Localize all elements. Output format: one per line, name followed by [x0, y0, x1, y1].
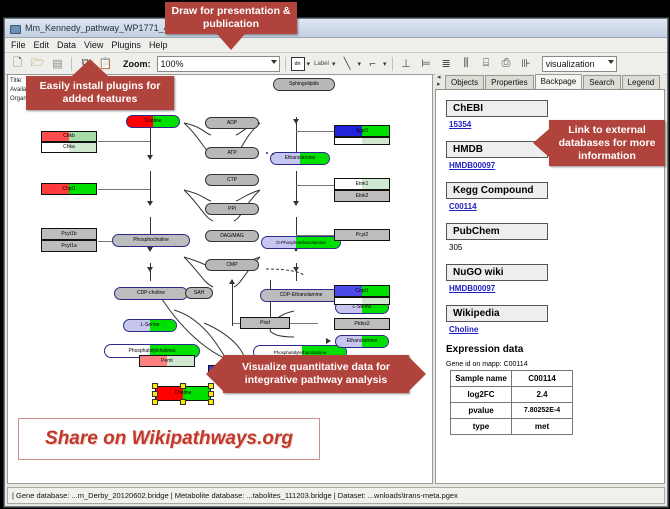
gene-node[interactable]: Chpt1	[41, 183, 97, 195]
callout-link: Link to external databases for more info…	[549, 120, 665, 166]
edge-segment	[296, 171, 297, 203]
cofactor-node[interactable]: CMP	[205, 259, 259, 271]
db-link-wikipedia[interactable]: Choline	[449, 325, 658, 334]
save-icon[interactable]: ▤	[49, 55, 66, 72]
stack-tool-icon[interactable]: ⫼	[458, 55, 475, 72]
arrow-icon	[229, 279, 235, 284]
gene-node[interactable]: Etnk1	[334, 178, 390, 190]
node-label: Ethanolamine	[347, 339, 378, 344]
gene-node[interactable]: Sgpl1	[334, 125, 390, 137]
gene-node[interactable]: Ptdss2	[334, 318, 390, 330]
arrow-icon	[147, 267, 153, 272]
tab-properties[interactable]: Properties	[485, 75, 533, 89]
menu-item-file[interactable]: File	[11, 40, 26, 50]
chevron-down-icon[interactable]: ▾	[358, 60, 362, 68]
metabolite-node[interactable]: Ethanolamine	[335, 335, 389, 348]
connector-tool-icon[interactable]: ⌐	[364, 55, 381, 72]
edge-segment	[296, 263, 297, 281]
gene-node[interactable]: Etnk2	[334, 190, 390, 202]
node-label: Phosphatidylcholines	[129, 349, 176, 354]
selection-handle[interactable]	[152, 383, 158, 389]
db-header-wikipedia: Wikipedia	[446, 305, 548, 322]
metabolite-node[interactable]: Sphingolipids	[273, 78, 335, 91]
metabolite-node[interactable]: SAH	[185, 287, 213, 299]
node-label: Chkb	[63, 134, 75, 139]
db-link-kegg[interactable]: C00114	[449, 202, 658, 211]
gene-node[interactable]: Pcyt1b	[41, 228, 97, 240]
chevron-down-icon[interactable]: ▾	[383, 60, 387, 68]
metabolite-node[interactable]	[266, 152, 268, 154]
cell-key: log2FC	[451, 387, 512, 403]
node-label: Pcyt1b	[61, 232, 76, 237]
cofactor-node[interactable]: ADP	[205, 117, 259, 129]
table-row: log2FC 2.4	[451, 387, 573, 403]
db-header-nugo: NuGO wiki	[446, 264, 548, 281]
node-label: Chpt1	[62, 187, 75, 192]
menu-item-data[interactable]: Data	[57, 40, 76, 50]
cell-key: pvalue	[451, 403, 512, 419]
selection-handle[interactable]	[180, 399, 186, 405]
tab-legend[interactable]: Legend	[622, 75, 661, 89]
arrow-icon	[326, 338, 331, 344]
node-label: Cept1	[355, 289, 368, 294]
edge-segment	[150, 127, 151, 157]
metabolite-node[interactable]: Choline	[126, 115, 180, 128]
toolbar-separator	[285, 57, 286, 71]
gene-node[interactable]: Pcyt1a	[41, 240, 97, 252]
gene-node[interactable]: Pemt	[139, 355, 195, 367]
node-label: Choline	[145, 119, 162, 124]
callout-arrow-plugins	[72, 59, 108, 76]
metabolite-node[interactable]: CDP-Ethanolamine	[260, 289, 342, 302]
edge-segment	[232, 280, 233, 326]
callout-visualize: Visualize quantitative data for integrat…	[223, 355, 409, 393]
node-label: ADP	[227, 121, 237, 126]
callout-arrow-link	[533, 129, 549, 157]
node-label: Ptdss2	[354, 322, 369, 327]
order-tool-icon[interactable]: ≣	[438, 55, 455, 72]
tab-backpage[interactable]: Backpage	[535, 74, 583, 89]
gene-node[interactable]: Chka	[41, 142, 97, 153]
metabolite-node[interactable]: Phosphocholine	[112, 234, 190, 247]
callout-draw: Draw for presentation & publication	[165, 2, 297, 34]
arrow-icon	[293, 119, 299, 124]
db-header-chebi: ChEBI	[446, 100, 548, 117]
cofactor-node[interactable]: ATP	[205, 147, 259, 159]
db-value-pubchem: 305	[449, 243, 658, 252]
node-label: CTP	[227, 178, 237, 183]
arrow-icon	[147, 247, 153, 252]
expression-data-heading: Expression data	[446, 344, 658, 355]
print-tool-icon[interactable]: ⎙	[498, 55, 515, 72]
node-label: Sphingolipids	[289, 82, 319, 87]
share-text: Share on Wikipathways.org	[45, 428, 293, 450]
gene-node[interactable]: Pisd	[240, 317, 290, 329]
gene-node[interactable]: Cept1	[334, 285, 390, 297]
node-label: Phosphatidylethanolamine	[274, 350, 327, 355]
gene-node[interactable]: Pcyt2	[334, 229, 390, 241]
cell-value: met	[512, 419, 573, 435]
node-label: Ethanolamine	[285, 156, 316, 161]
node-label: CDP-choline	[137, 291, 165, 296]
menu-item-plugins[interactable]: Plugins	[111, 40, 141, 50]
tab-scroll-icon[interactable]: ◂▸	[437, 74, 441, 88]
metabolite-node[interactable]: CDP-choline	[114, 287, 188, 300]
selection-handle[interactable]	[208, 391, 214, 397]
chevron-down-icon	[271, 60, 277, 64]
node-label: Chka	[63, 145, 75, 150]
line-tool-icon[interactable]: ╲	[339, 55, 356, 72]
table-row: pvalue 7.80252E-4	[451, 403, 573, 419]
menu-item-help[interactable]: Help	[149, 40, 168, 50]
node-label: Etnk2	[356, 194, 369, 199]
node-label: Pcyt1a	[61, 244, 76, 249]
callout-arrow-visualize-right	[409, 357, 426, 391]
cofactor-node[interactable]: CTP	[205, 174, 259, 186]
selection-handle[interactable]	[208, 399, 214, 405]
metabolite-node[interactable]: L-Serine	[123, 319, 177, 332]
menu-item-view[interactable]: View	[84, 40, 103, 50]
tab-objects[interactable]: Objects	[445, 75, 484, 89]
zoom-combo[interactable]: 100%	[157, 56, 280, 72]
node-label: DAG/MAG	[220, 234, 244, 239]
arrow-icon	[147, 155, 153, 160]
cell-key: type	[451, 419, 512, 435]
node-label: O-Phosphoethanolamine	[276, 240, 326, 245]
status-text: | Gene database: ...m_Derby_20120602.bri…	[12, 491, 458, 500]
menu-item-edit[interactable]: Edit	[34, 40, 50, 50]
edge-segment	[98, 189, 150, 190]
panel-tabs: ◂▸ Objects Properties Backpage Search Le…	[435, 74, 665, 90]
gene-node[interactable]	[334, 137, 390, 145]
chevron-down-icon[interactable]: ▾	[307, 60, 311, 68]
edge-segment	[150, 263, 151, 281]
new-file-icon[interactable]: 🗋	[9, 55, 26, 72]
arrow-icon	[293, 267, 299, 272]
status-bar: | Gene database: ...m_Derby_20120602.bri…	[7, 487, 665, 504]
node-label: Sgpl1	[356, 129, 369, 134]
selection-handle[interactable]	[180, 383, 186, 389]
node-label: Phosphocholine	[133, 238, 169, 243]
zoom-value: 100%	[161, 59, 184, 69]
cofactor-node[interactable]: DAG/MAG	[205, 230, 259, 242]
node-label: SAH	[194, 291, 204, 296]
chevron-down-icon	[608, 60, 614, 64]
arrow-icon	[147, 201, 153, 206]
tab-search[interactable]: Search	[583, 75, 620, 89]
cell-value: C00114	[512, 371, 573, 387]
app-icon	[9, 22, 21, 34]
node-label: L-Serine	[141, 323, 160, 328]
callout-plugins: Easily install plugins for added feature…	[26, 76, 174, 110]
label-tool-icon[interactable]: Label	[313, 55, 330, 72]
expression-table: Sample name C00114 log2FC 2.4 pvalue 7.8…	[450, 370, 573, 435]
screenshot-root: Mm_Kennedy_pathway_WP1771_45176.gpml Fil…	[0, 0, 670, 509]
callout-share: Share on Wikipathways.org	[18, 418, 320, 460]
node-label: Pcyt2	[356, 233, 369, 238]
node-label: Etnk1	[356, 182, 369, 187]
node-label: Pisd	[260, 321, 270, 326]
metabolite-node[interactable]: O-Phosphoethanolamine	[261, 236, 341, 249]
menu-bar: File Edit Data View Plugins Help	[5, 38, 667, 53]
node-label: CDP-Ethanolamine	[280, 293, 323, 298]
node-label: Pemt	[161, 359, 173, 364]
metabolite-node[interactable]: Ethanolamine	[270, 152, 330, 165]
edge-segment	[98, 141, 150, 142]
node-label: CMP	[226, 263, 237, 268]
cell-value: 2.4	[512, 387, 573, 403]
bring-front-tool-icon[interactable]: ⊪	[518, 55, 535, 72]
db-header-pubchem: PubChem	[446, 223, 548, 240]
toolbar-separator	[392, 57, 393, 71]
cell-key: Sample name	[451, 371, 512, 387]
chevron-down-icon[interactable]: ▾	[332, 60, 336, 68]
callout-arrow-draw	[217, 34, 245, 50]
metabolite-node[interactable]	[272, 153, 274, 155]
selection-handle[interactable]	[152, 399, 158, 405]
node-label: Choline	[175, 391, 192, 396]
visualization-value: visualization	[546, 59, 595, 69]
gene-node[interactable]: Chkb	[41, 131, 97, 142]
node-label: L-Serine	[353, 305, 372, 310]
node-label: ATP	[227, 151, 236, 156]
edge-segment	[150, 171, 151, 203]
distribute-tool-icon[interactable]: ⌸	[478, 55, 495, 72]
arrow-icon	[293, 201, 299, 206]
gene-id-line: Gene id on mapp: C00114	[446, 361, 658, 368]
edge-segment	[296, 185, 334, 186]
align-tool-icon[interactable]: ⊥	[398, 55, 415, 72]
title-bar: Mm_Kennedy_pathway_WP1771_45176.gpml	[5, 19, 667, 38]
datanode-tool-icon[interactable]: dn	[291, 57, 305, 71]
zoom-label: Zoom:	[123, 59, 151, 69]
selection-handle[interactable]	[152, 391, 158, 397]
db-header-kegg: Kegg Compound	[446, 182, 548, 199]
table-row: type met	[451, 419, 573, 435]
edge-segment	[296, 131, 334, 132]
table-row: Sample name C00114	[451, 371, 573, 387]
visualization-combo[interactable]: visualization	[542, 56, 617, 72]
group-tool-icon[interactable]: ⊨	[418, 55, 435, 72]
cell-value: 7.80252E-4	[512, 403, 573, 419]
callout-arrow-visualize	[206, 357, 223, 391]
cofactor-node[interactable]: PPi	[205, 203, 259, 215]
db-link-nugo[interactable]: HMDB00097	[449, 284, 658, 293]
node-label: PPi	[228, 207, 236, 212]
open-folder-icon[interactable]: 🗁	[29, 55, 46, 72]
